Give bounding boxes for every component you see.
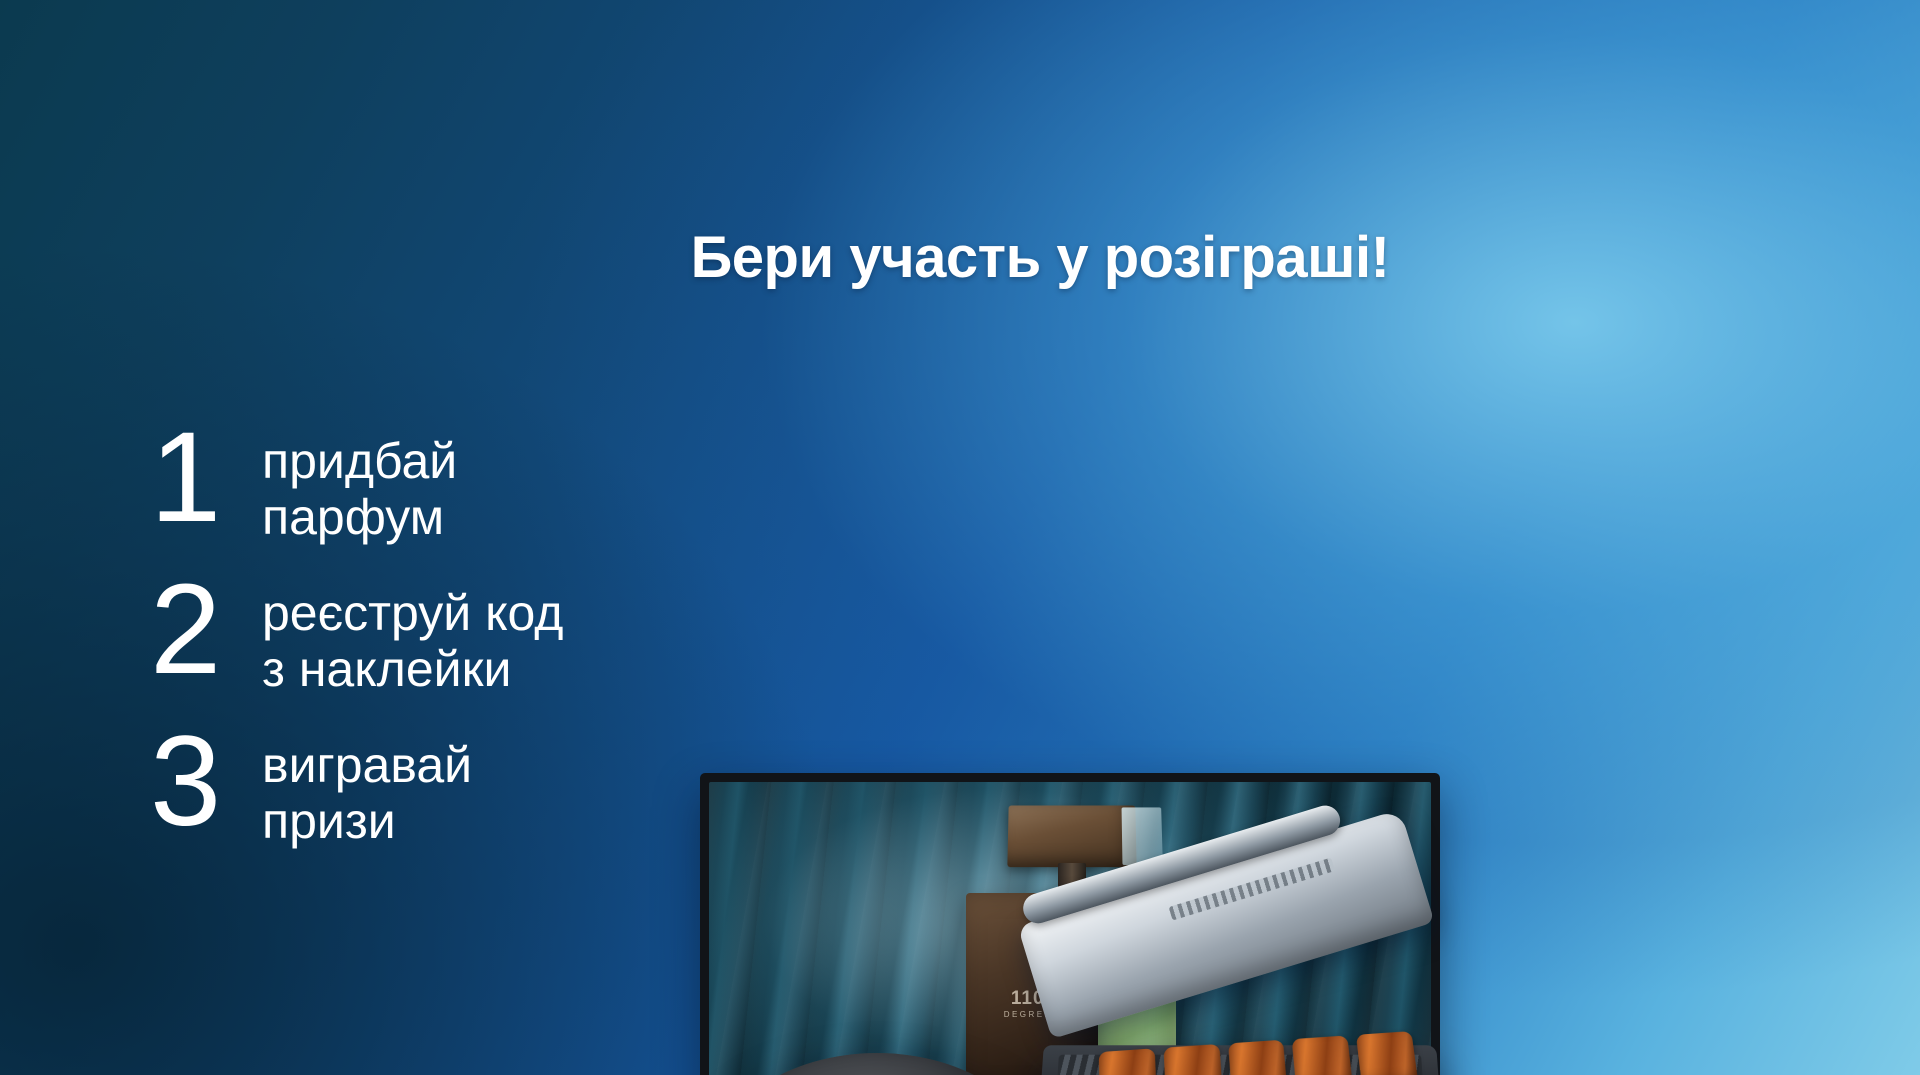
sausage	[1099, 1048, 1157, 1075]
prize-product-stage: 110° DEGREES ROBOT VACUUM	[700, 753, 1830, 1075]
step-number: 3	[150, 723, 262, 841]
grill-food	[1099, 1031, 1419, 1075]
step-label: вигравай призи	[262, 723, 472, 849]
page-title: Бери участь у розіграші!	[0, 224, 1920, 291]
grill-image	[1040, 921, 1480, 1075]
sausage	[1292, 1035, 1353, 1075]
sausage	[1356, 1031, 1419, 1075]
perfume-cap	[1007, 805, 1136, 867]
list-item: 3 вигравай призи	[150, 723, 690, 849]
list-item: 2 реєструй код з наклейки	[150, 571, 690, 697]
grill-base	[1036, 1045, 1444, 1075]
step-label: придбай парфум	[262, 419, 457, 545]
promo-banner: Бери участь у розіграші! 1 придбай парфу…	[0, 0, 1920, 1075]
step-label: реєструй код з наклейки	[262, 571, 563, 697]
sausage	[1228, 1040, 1288, 1075]
list-item: 1 придбай парфум	[150, 419, 690, 545]
robot-vacuum-body: ROBOT VACUUM	[712, 1053, 1042, 1075]
step-number: 2	[150, 571, 262, 689]
step-number: 1	[150, 419, 262, 537]
grill-plate	[1056, 1055, 1424, 1075]
robot-vacuum-image: ROBOT VACUUM	[712, 1053, 1042, 1075]
sausage	[1163, 1044, 1222, 1075]
steps-list: 1 придбай парфум 2 реєструй код з наклей…	[150, 419, 690, 849]
